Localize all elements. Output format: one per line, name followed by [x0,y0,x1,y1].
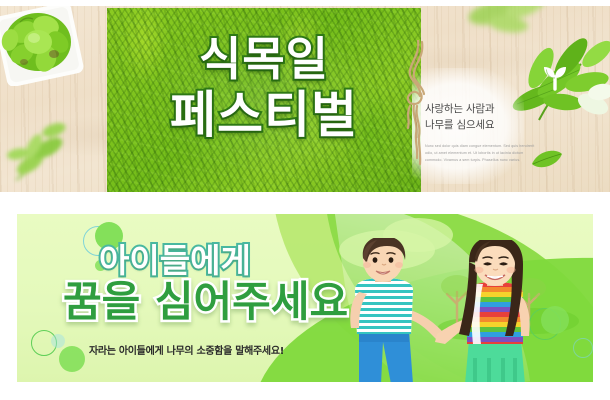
solid-green-circle-3 [59,346,85,372]
banner-page: 식목일 페스티벌 [0,0,610,400]
top-title-line1: 식목일 [107,36,421,82]
teal-ring-circle-2 [573,338,593,358]
bottom-banner-subtitle: 자라는 아이들에게 나무의 소중함을 말해주세요! [89,342,284,357]
twine-knot-icon [398,40,434,170]
small-leaf-bottom-right [530,148,564,170]
bottom-banner-title: 아이들에게 꿈을 심어주세요 [63,244,348,323]
bottom-title-line2: 꿈을 심어주세요 [63,281,348,323]
sprout-leaf-icon [540,61,570,91]
filler-paragraph: Nunc sed dolor quis diam congue elementu… [425,143,535,165]
boy-holding-hands [329,238,447,382]
succulent-plant-in-white-pot [0,6,90,86]
blurred-leaf-sprig-left [4,110,90,188]
soft-teal-dot-1 [51,334,65,348]
girl-holding-hands [435,240,555,382]
copy-line-2: 나무를 심으세요 [425,117,535,133]
top-banner-title: 식목일 페스티벌 [107,36,421,140]
copy-line-1: 사랑하는 사람과 [425,101,535,117]
bottom-banner[interactable]: 아이들에게 꿈을 심어주세요 자라는 아이들에게 나무의 소중함을 말해주세요! [17,214,593,382]
top-title-line2: 페스티벌 [107,90,421,140]
bottom-title-line1: 아이들에게 [99,244,348,277]
top-banner[interactable]: 식목일 페스티벌 [0,6,610,192]
top-banner-copy: 사랑하는 사람과 나무를 심으세요 Nunc sed dolor quis di… [425,101,535,164]
